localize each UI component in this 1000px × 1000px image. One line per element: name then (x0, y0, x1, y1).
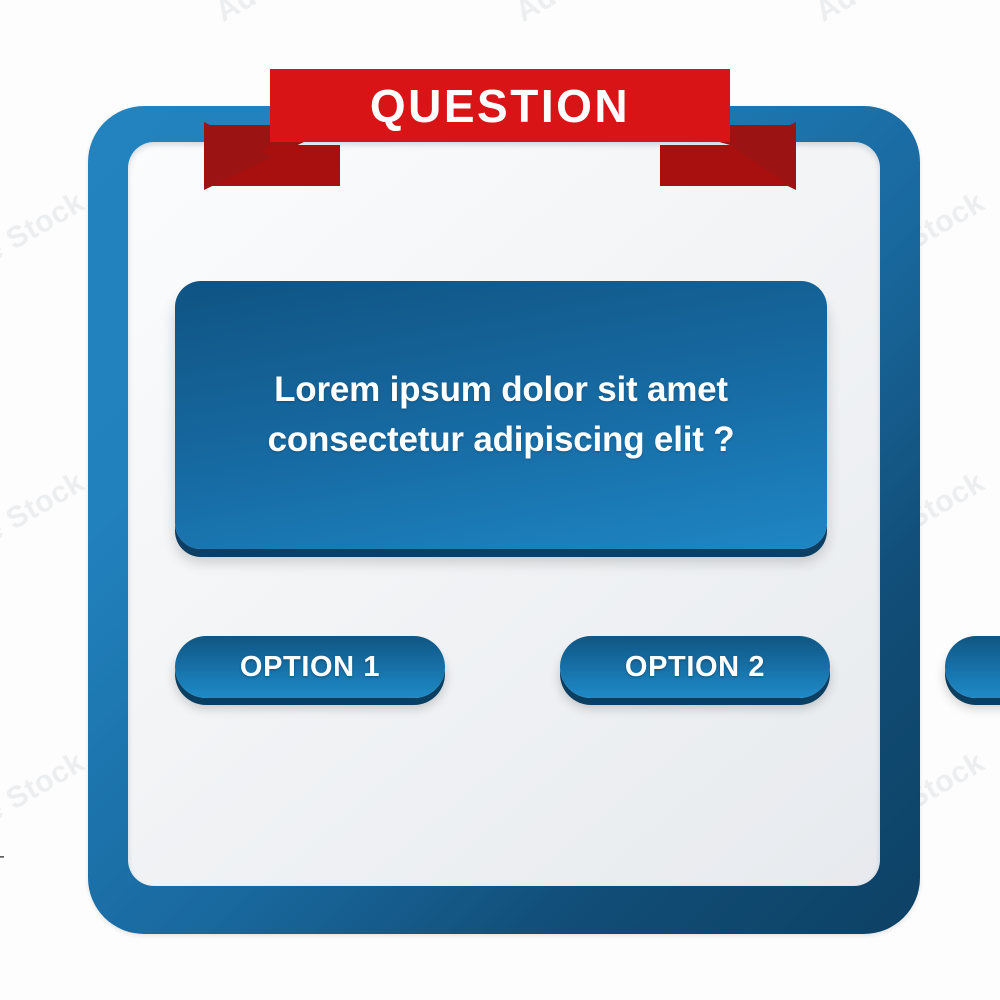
watermark-text: Adobe Stock (0, 186, 91, 310)
watermark-text: Adobe Stock (210, 0, 391, 29)
option-button-2[interactable]: OPTION 2 (560, 636, 830, 698)
watermark-text: Adobe Stock (510, 0, 691, 29)
watermark-text: Adobe Stock (0, 0, 91, 29)
question-line-1: Lorem ipsum dolor sit amet (268, 365, 735, 415)
option-button-3[interactable]: OPTION 3 (945, 636, 1000, 698)
option-button-1[interactable]: OPTION 1 (175, 636, 445, 698)
poster-canvas: Adobe Stock Adobe Stock Adobe Stock Adob… (0, 0, 1000, 1000)
question-box: Lorem ipsum dolor sit amet consectetur a… (175, 281, 827, 549)
options-grid: OPTION 1 OPTION 2 OPTION 3 OPTION 4 (175, 636, 835, 698)
stock-credit: Adobe Stock | #489683321 (0, 740, 6, 976)
watermark-text: Adobe Stock (0, 466, 91, 590)
question-line-2: consectetur adipiscing elit ? (268, 415, 735, 465)
ribbon-title: QUESTION (270, 69, 730, 142)
watermark-text: Adobe Stock (810, 0, 991, 29)
watermark-text: Adobe Stock (0, 746, 91, 870)
question-text: Lorem ipsum dolor sit amet consectetur a… (242, 365, 761, 464)
